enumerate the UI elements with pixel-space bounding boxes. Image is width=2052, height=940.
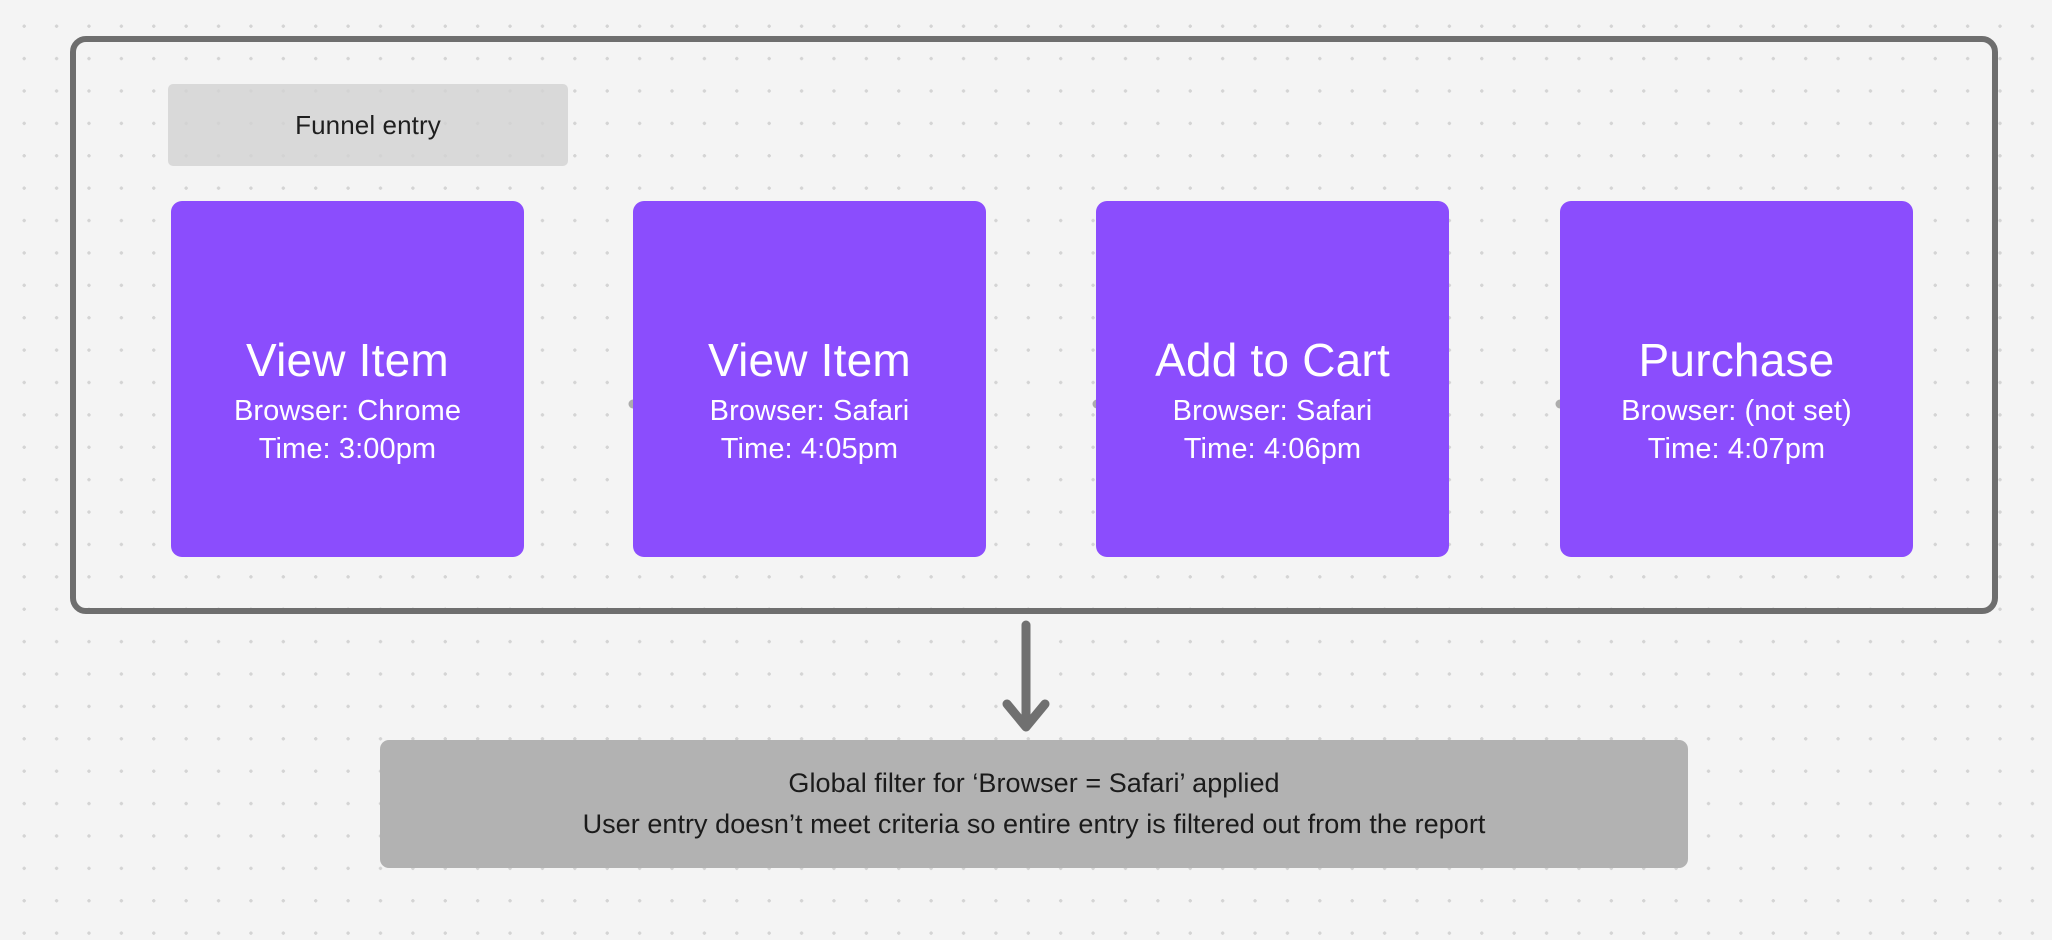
- step-time: Time: 4:05pm: [721, 430, 898, 468]
- step-time: Time: 4:06pm: [1184, 430, 1361, 468]
- filter-note-line-2: User entry doesn’t meet criteria so enti…: [583, 804, 1486, 845]
- step-time: Time: 4:07pm: [1648, 430, 1825, 468]
- step-title: View Item: [708, 336, 911, 384]
- step-time: Time: 3:00pm: [259, 430, 436, 468]
- filter-note-line-1: Global filter for ‘Browser = Safari’ app…: [788, 763, 1279, 804]
- funnel-steps-row: View Item Browser: Chrome Time: 3:00pm V…: [76, 42, 1992, 608]
- step-browser: Browser: Safari: [710, 392, 910, 430]
- funnel-step-card[interactable]: Add to Cart Browser: Safari Time: 4:06pm: [1096, 201, 1449, 557]
- step-browser: Browser: Chrome: [234, 392, 461, 430]
- step-title: Purchase: [1639, 336, 1835, 384]
- step-title: Add to Cart: [1155, 336, 1390, 384]
- step-browser: Browser: Safari: [1173, 392, 1373, 430]
- funnel-step-card[interactable]: View Item Browser: Safari Time: 4:05pm: [633, 201, 986, 557]
- step-title: View Item: [246, 336, 449, 384]
- funnel-container: Funnel entry View Item Browser: Chrome T…: [70, 36, 1998, 614]
- step-browser: Browser: (not set): [1621, 392, 1852, 430]
- filter-note-box: Global filter for ‘Browser = Safari’ app…: [380, 740, 1688, 868]
- funnel-step-card[interactable]: Purchase Browser: (not set) Time: 4:07pm: [1560, 201, 1913, 557]
- arrow-down-icon: [1000, 620, 1052, 736]
- funnel-step-card[interactable]: View Item Browser: Chrome Time: 3:00pm: [171, 201, 524, 557]
